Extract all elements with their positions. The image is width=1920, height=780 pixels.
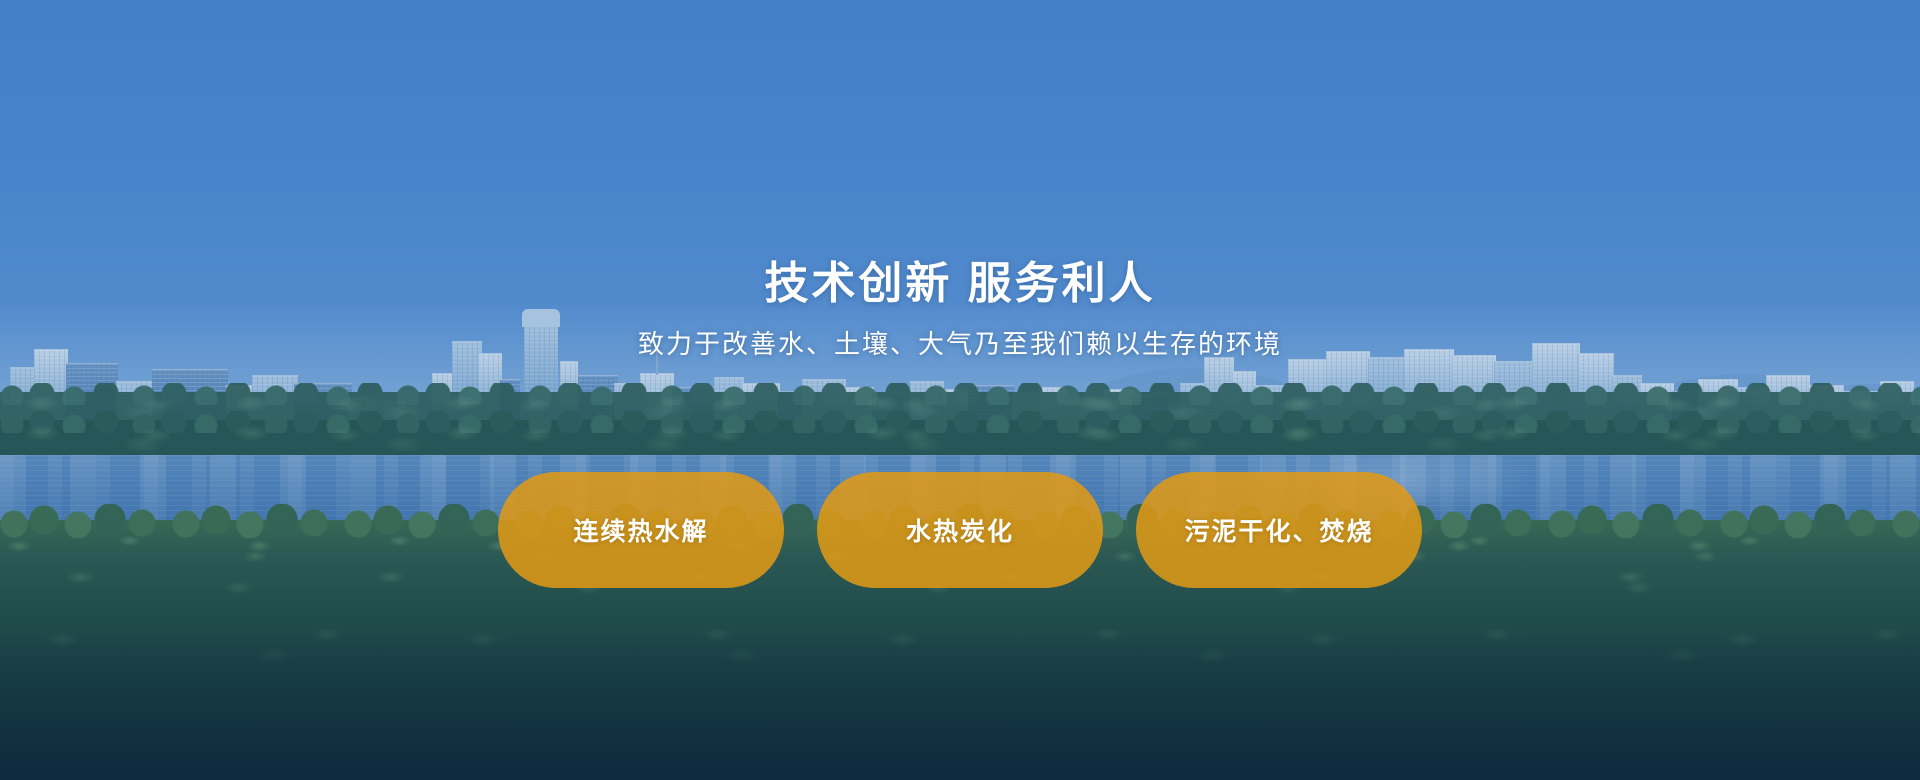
hero-text-block: 技术创新 服务利人 致力于改善水、土壤、大气乃至我们赖以生存的环境 (0, 258, 1920, 362)
cta-button-label: 水热炭化 (906, 512, 1014, 548)
cta-button-continuous-thermal-hydrolysis[interactable]: 连续热水解 (498, 472, 784, 588)
mangrove-shadow (0, 630, 1920, 780)
cta-button-label: 污泥干化、焚烧 (1184, 512, 1373, 548)
hero-title: 技术创新 服务利人 (0, 258, 1920, 310)
hero-banner: 技术创新 服务利人 致力于改善水、土壤、大气乃至我们赖以生存的环境 连续热水解 … (0, 0, 1920, 780)
cta-button-row: 连续热水解 水热炭化 污泥干化、焚烧 (0, 472, 1920, 588)
cta-button-hydrothermal-carbonization[interactable]: 水热炭化 (817, 472, 1103, 588)
cta-button-sludge-drying-incineration[interactable]: 污泥干化、焚烧 (1136, 472, 1422, 588)
cta-button-label: 连续热水解 (573, 512, 708, 548)
hero-subtitle: 致力于改善水、土壤、大气乃至我们赖以生存的环境 (0, 328, 1920, 362)
